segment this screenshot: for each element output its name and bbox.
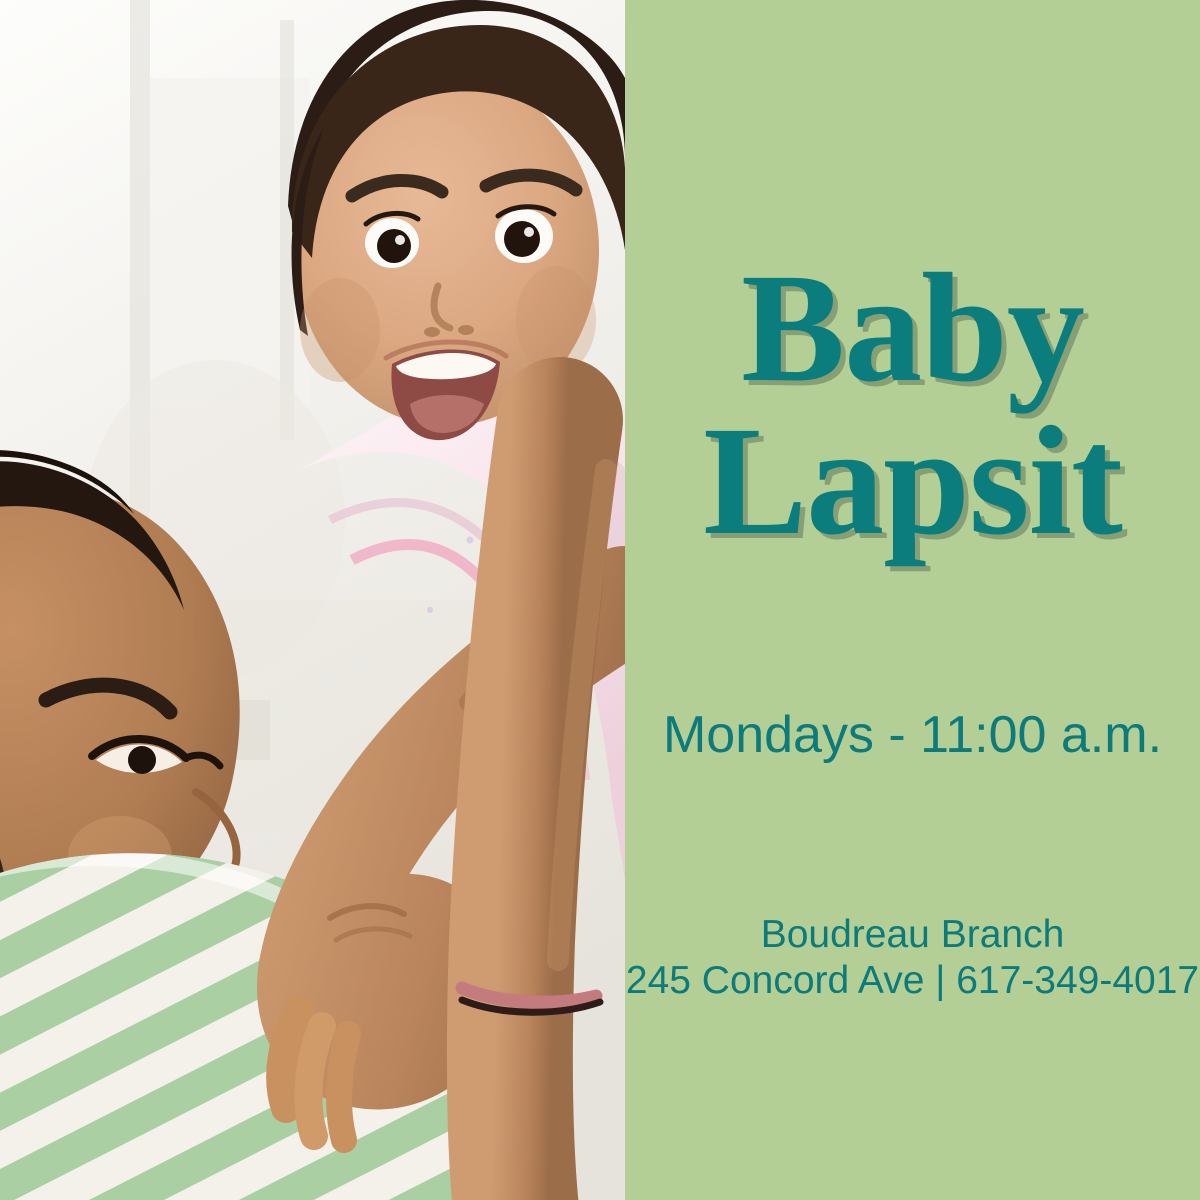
branch-name: Boudreau Branch [625,912,1200,958]
photo-panel [0,0,625,1200]
photo-mother-and-baby [0,0,625,1200]
branch-address-phone: 245 Concord Ave | 617-349-4017 [625,958,1200,1004]
title-line-2: Lapsit [625,405,1200,558]
location-block: Boudreau Branch 245 Concord Ave | 617-34… [625,912,1200,1004]
info-panel: Baby Lapsit Mondays - 11:00 a.m. Boudrea… [625,0,1200,1200]
poster-canvas: Baby Lapsit Mondays - 11:00 a.m. Boudrea… [0,0,1200,1200]
schedule-time: Mondays - 11:00 a.m. [625,705,1200,765]
page-title: Baby Lapsit [625,252,1200,558]
title-line-1: Baby [625,252,1200,405]
